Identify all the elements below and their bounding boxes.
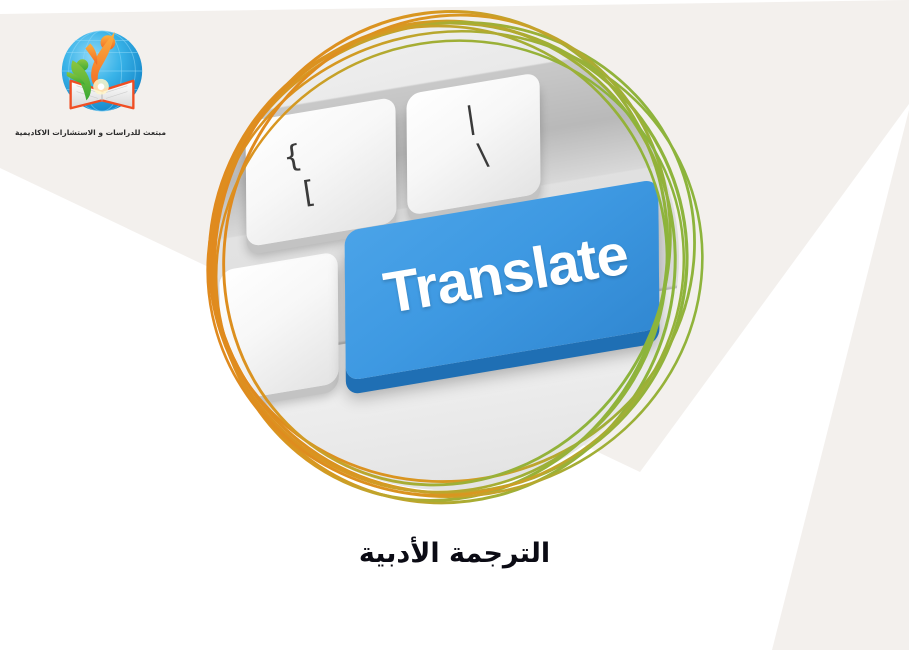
page-title: الترجمة الأدبية	[0, 538, 909, 569]
translate-keyboard-photo: } ] | \ Translate	[213, 24, 679, 490]
pipe-glyph: |	[464, 104, 478, 135]
keyboard-key-pipe-backslash: | \	[406, 72, 540, 216]
brace-glyph: }	[281, 141, 304, 173]
logo-block: مبتعث للدراسات و الاستشارات الاكاديمية	[38, 22, 166, 137]
backslash-glyph: \	[476, 140, 490, 171]
translate-key-label: Translate	[358, 222, 654, 327]
keyboard-surface: } ] | \ Translate	[213, 24, 679, 490]
bracket-glyph: ]	[301, 178, 317, 209]
logo-mark	[53, 22, 151, 120]
keyboard-key-blank	[219, 251, 339, 402]
keyboard-key-brace-bracket: } ]	[245, 97, 396, 248]
logo-caption: مبتعث للدراسات و الاستشارات الاكاديمية	[38, 128, 166, 137]
slide-canvas: } ] | \ Translate	[0, 0, 909, 650]
globe-book-icon	[53, 22, 151, 120]
